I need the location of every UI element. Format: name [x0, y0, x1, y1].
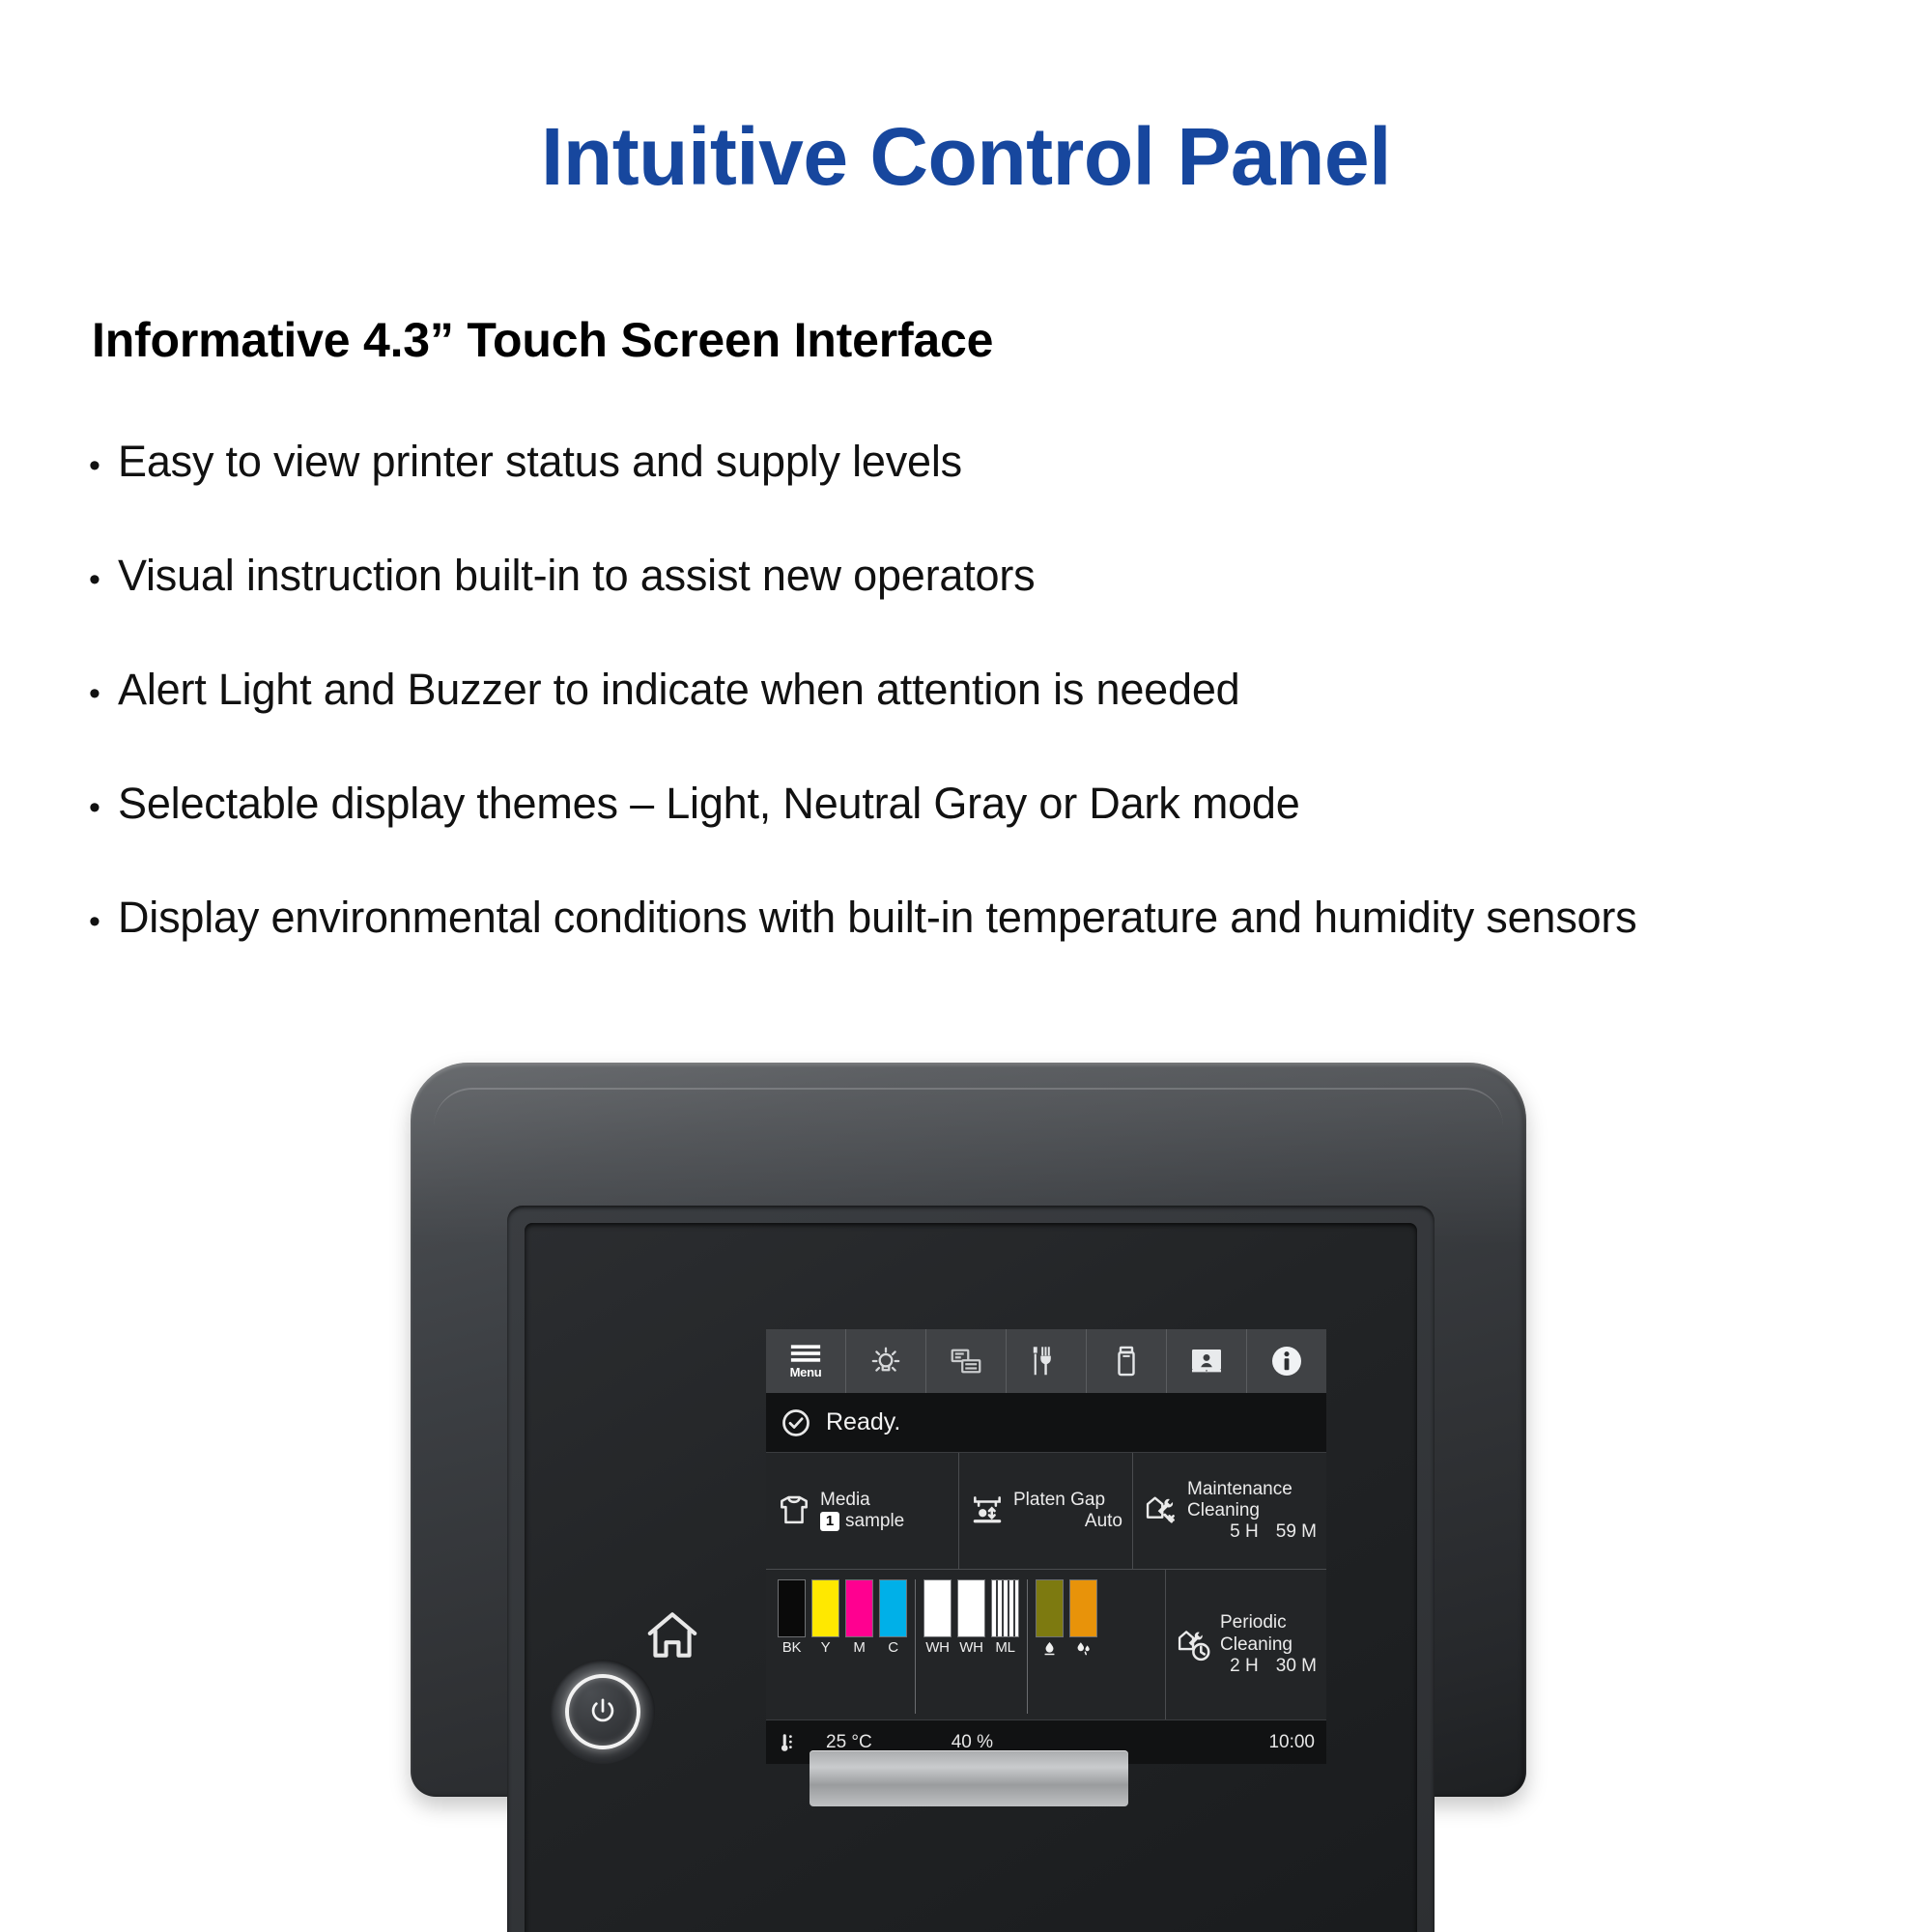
tile-media-body: Media 1 sample — [820, 1490, 949, 1533]
hamburger-menu-icon — [789, 1344, 822, 1365]
bullet-marker: • — [89, 677, 118, 710]
printer-status-bar: Ready. — [766, 1393, 1326, 1453]
periodic-hours: 2 H — [1230, 1656, 1259, 1677]
list-item: • Visual instruction built-in to assist … — [89, 551, 1886, 665]
menu-button[interactable]: Menu — [766, 1329, 846, 1393]
tile-platen-gap[interactable]: Platen Gap Auto — [959, 1453, 1133, 1569]
ink-label: Y — [821, 1640, 831, 1655]
ink-label: M — [853, 1640, 865, 1655]
usb-drive-button[interactable] — [1087, 1329, 1167, 1393]
tile-maintenance-time: 5 H 59 M — [1187, 1521, 1317, 1543]
lcd-ink-row: BK Y M C — [766, 1569, 1326, 1719]
bullet-marker: • — [89, 563, 118, 596]
bullet-text: Easy to view printer status and supply l… — [118, 437, 962, 487]
list-item: • Display environmental conditions with … — [89, 893, 1886, 1007]
tile-media-title: Media — [820, 1490, 870, 1510]
display-glass: Menu — [525, 1223, 1417, 1932]
maintenance-button[interactable] — [1007, 1329, 1087, 1393]
manual-book-icon — [1189, 1344, 1224, 1378]
ink-chip — [879, 1579, 907, 1637]
ink-label: ML — [995, 1640, 1014, 1655]
tile-periodic-cleaning[interactable]: Periodic Cleaning 2 H 30 M — [1166, 1570, 1326, 1719]
periodic-cleaning-icon — [1176, 1627, 1212, 1663]
job-queue-icon — [949, 1344, 983, 1378]
ink-cartridge[interactable]: ML — [991, 1579, 1019, 1655]
platen-gap-icon — [969, 1492, 1006, 1529]
ink-label: C — [888, 1640, 898, 1655]
clock-value: 10:00 — [1268, 1732, 1315, 1753]
periodic-minutes: 30 M — [1276, 1656, 1317, 1677]
slide-page: Intuitive Control Panel Informative 4.3”… — [0, 0, 1932, 1932]
list-item: • Selectable display themes – Light, Neu… — [89, 779, 1886, 893]
usb-drive-icon — [1109, 1344, 1144, 1378]
maintenance-minutes: 59 M — [1276, 1521, 1317, 1543]
ink-supply-levels[interactable]: BK Y M C — [766, 1570, 1166, 1719]
periodic-title-1: Periodic — [1220, 1612, 1287, 1633]
waste-ink-icon — [1041, 1640, 1058, 1657]
ink-chip — [923, 1579, 952, 1637]
ink-chip — [845, 1579, 873, 1637]
ink-cartridge[interactable]: BK — [778, 1579, 806, 1655]
bullet-text: Alert Light and Buzzer to indicate when … — [118, 665, 1239, 715]
manual-book-button[interactable] — [1167, 1329, 1247, 1393]
ink-cartridge[interactable]: WH — [923, 1579, 952, 1655]
mount-bracket — [810, 1750, 1128, 1806]
feature-bullet-list: • Easy to view printer status and supply… — [89, 437, 1886, 1007]
tile-maintenance-title-2: Cleaning — [1187, 1500, 1260, 1520]
ink-label: BK — [782, 1640, 801, 1655]
power-button[interactable] — [551, 1660, 655, 1764]
ink-chip — [811, 1579, 839, 1637]
ink-cartridge[interactable]: WH — [957, 1579, 985, 1655]
information-icon — [1269, 1344, 1304, 1378]
tile-platen-title: Platen Gap — [1013, 1490, 1105, 1510]
ink-cartridge[interactable]: C — [879, 1579, 907, 1655]
thermometer-icon — [778, 1732, 799, 1753]
tile-media-value: 1 sample — [820, 1511, 949, 1532]
menu-label: Menu — [790, 1366, 822, 1378]
ink-label: WH — [925, 1640, 949, 1655]
waste-ink-tank[interactable] — [1036, 1579, 1064, 1657]
bullet-text: Selectable display themes – Light, Neutr… — [118, 779, 1300, 829]
lamp-icon — [868, 1344, 903, 1378]
tile-media[interactable]: Media 1 sample — [766, 1453, 959, 1569]
ink-chip — [1069, 1579, 1097, 1637]
bullet-marker: • — [89, 905, 118, 938]
media-name: sample — [845, 1511, 904, 1532]
periodic-title-2: Cleaning — [1220, 1634, 1293, 1655]
page-title: Intuitive Control Panel — [0, 114, 1932, 199]
power-icon — [586, 1695, 619, 1728]
ink-cartridge[interactable]: M — [845, 1579, 873, 1655]
bullet-marker: • — [89, 791, 118, 824]
maintenance-tools-icon — [1029, 1344, 1064, 1378]
ink-group-divider — [915, 1579, 916, 1714]
ink-label: WH — [959, 1640, 982, 1655]
media-slot-badge: 1 — [820, 1512, 839, 1531]
cleaning-liquid-icon — [1075, 1640, 1092, 1657]
ink-chip — [778, 1579, 806, 1637]
periodic-time: 2 H 30 M — [1220, 1656, 1317, 1677]
tile-maintenance-title-1: Maintenance — [1187, 1479, 1293, 1499]
control-panel-device: Menu — [411, 1063, 1526, 1797]
bullet-text: Visual instruction built-in to assist ne… — [118, 551, 1035, 601]
bullet-marker: • — [89, 449, 118, 482]
ink-cartridge[interactable]: Y — [811, 1579, 839, 1655]
information-button[interactable] — [1247, 1329, 1326, 1393]
lcd-screen: Menu — [766, 1329, 1326, 1764]
periodic-body: Periodic Cleaning 2 H 30 M — [1220, 1612, 1317, 1677]
ink-chip — [957, 1579, 985, 1637]
t-shirt-icon — [776, 1492, 812, 1529]
ink-chip — [1036, 1579, 1064, 1637]
ink-chip — [991, 1579, 1019, 1637]
home-icon[interactable] — [639, 1602, 706, 1669]
lcd-icon-bar: Menu — [766, 1329, 1326, 1393]
list-item: • Alert Light and Buzzer to indicate whe… — [89, 665, 1886, 779]
status-text: Ready. — [826, 1408, 900, 1436]
check-circle-icon — [781, 1408, 810, 1437]
display-bezel: Menu — [507, 1206, 1435, 1932]
maintenance-hours: 5 H — [1230, 1521, 1259, 1543]
bullet-text: Display environmental conditions with bu… — [118, 893, 1636, 943]
tile-maintenance-body: Maintenance Cleaning 5 H 59 M — [1187, 1479, 1317, 1544]
cleaning-liquid-tank[interactable] — [1069, 1579, 1097, 1657]
ink-group-divider — [1027, 1579, 1028, 1714]
tile-maintenance-cleaning[interactable]: Maintenance Cleaning 5 H 59 M — [1133, 1453, 1326, 1569]
tile-platen-value: Auto — [1013, 1511, 1122, 1532]
section-subtitle: Informative 4.3” Touch Screen Interface — [92, 312, 993, 368]
job-queue-button[interactable] — [926, 1329, 1007, 1393]
lcd-info-tiles: Media 1 sample — [766, 1453, 1326, 1569]
power-ring — [565, 1674, 640, 1749]
lamp-button[interactable] — [846, 1329, 926, 1393]
maintenance-cleaning-icon — [1143, 1492, 1179, 1529]
list-item: • Easy to view printer status and supply… — [89, 437, 1886, 551]
tile-platen-body: Platen Gap Auto — [1013, 1490, 1122, 1533]
